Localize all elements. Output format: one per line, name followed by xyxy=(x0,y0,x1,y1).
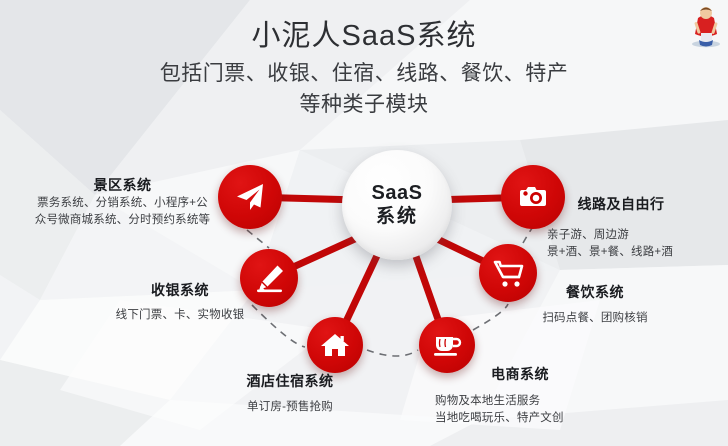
camera-icon xyxy=(517,181,549,213)
label-scenic-desc-line-2: 众号微商城系统、分时预约系统等 xyxy=(10,212,235,229)
label-hotel: 酒店住宿系统 单订房-预售抢购 xyxy=(200,372,380,416)
label-catering-desc-line-1: 扫码点餐、团购核销 xyxy=(500,310,690,327)
label-route-desc-line-1: 亲子游、周边游 xyxy=(547,227,727,244)
label-scenic: 景区系统 票务系统、分销系统、小程序+公 众号微商城系统、分时预约系统等 xyxy=(10,176,235,229)
dash-hotel-ecommerce xyxy=(367,350,418,356)
label-route-desc-line-2: 景+酒、景+餐、线路+酒 xyxy=(547,244,727,261)
label-ecommerce: 电商系统 购物及本地生活服务 当地吃喝玩乐、特产文创 xyxy=(460,365,690,427)
label-catering-desc: 扫码点餐、团购核销 xyxy=(500,310,690,327)
home-icon xyxy=(320,330,350,360)
paper-plane-icon xyxy=(233,180,267,214)
label-ecommerce-desc-line-1: 购物及本地生活服务 xyxy=(435,393,690,410)
label-route-head: 线路及自由行 xyxy=(547,195,695,214)
label-ecommerce-desc-line-2: 当地吃喝玩乐、特产文创 xyxy=(435,410,690,427)
label-ecommerce-head: 电商系统 xyxy=(460,365,580,384)
label-hotel-desc-line-1: 单订房-预售抢购 xyxy=(200,399,380,416)
infographic-canvas: 小泥人SaaS系统 包括门票、收银、住宿、线路、餐饮、特产 等种类子模块 xyxy=(0,0,728,446)
label-scenic-desc: 票务系统、分销系统、小程序+公 众号微商城系统、分时预约系统等 xyxy=(10,195,235,229)
label-catering-head: 餐饮系统 xyxy=(500,283,690,302)
label-catering: 餐饮系统 扫码点餐、团购核销 xyxy=(500,283,690,327)
dash-scenic-cashier xyxy=(247,230,269,248)
label-cashier: 收银系统 线下门票、卡、实物收银 xyxy=(90,281,270,324)
label-cashier-desc: 线下门票、卡、实物收银 xyxy=(90,307,270,324)
dash-catering-route xyxy=(523,227,533,243)
node-hotel[interactable] xyxy=(307,317,363,373)
label-hotel-desc: 单订房-预售抢购 xyxy=(200,399,380,416)
label-scenic-desc-line-1: 票务系统、分销系统、小程序+公 xyxy=(10,195,235,212)
label-cashier-desc-line-1: 线下门票、卡、实物收银 xyxy=(90,307,270,324)
hub-title-line-2: 系统 xyxy=(376,205,418,229)
label-route: 线路及自由行 亲子游、周边游 景+酒、景+餐、线路+酒 xyxy=(547,195,727,261)
label-cashier-head: 收银系统 xyxy=(90,281,270,300)
coffee-cup-icon xyxy=(432,330,463,361)
label-hotel-head: 酒店住宿系统 xyxy=(200,372,380,391)
hub-title-line-1: SaaS xyxy=(372,181,423,205)
label-route-desc: 亲子游、周边游 景+酒、景+餐、线路+酒 xyxy=(547,227,727,261)
label-ecommerce-desc: 购物及本地生活服务 当地吃喝玩乐、特产文创 xyxy=(435,393,690,427)
label-scenic-head: 景区系统 xyxy=(10,176,235,195)
corner-mascot-icon xyxy=(684,0,726,50)
hub-saas-core[interactable]: SaaS 系统 xyxy=(342,150,452,260)
